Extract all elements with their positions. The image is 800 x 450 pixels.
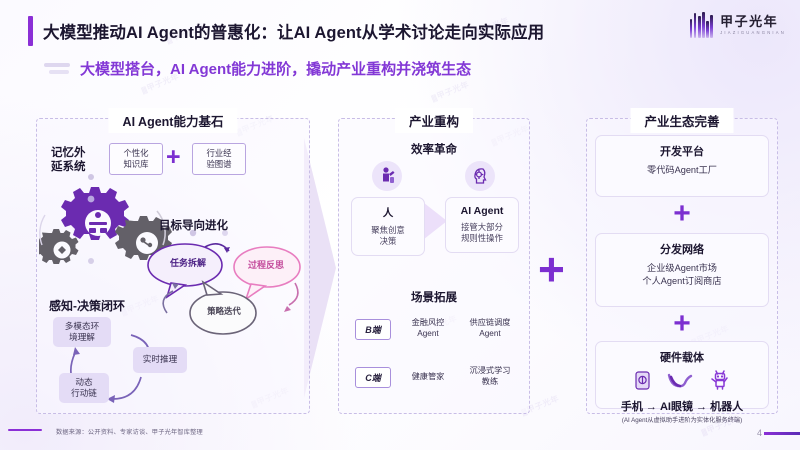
subtitle-dash-icon <box>44 63 70 74</box>
loop-step-realtime-reasoning: 实时推理 <box>133 347 187 373</box>
card-ai-agent: AI Agent 接管大部分 规则性操作 <box>445 197 519 253</box>
page-title: 大模型推动AI Agent的普惠化：让AI Agent从学术讨论走向实际应用 <box>28 14 668 48</box>
scenario-finance-risk: 金融风控 Agent <box>401 317 455 339</box>
scenario-supply-chain: 供应链调度 Agent <box>459 317 521 339</box>
scenario-health-butler: 健康管家 <box>401 371 455 382</box>
card-hardware-title: 硬件载体 <box>596 349 768 365</box>
card-dev-platform-title: 开发平台 <box>596 143 768 159</box>
plus-icon: + <box>166 145 181 170</box>
panel-mid-heading: 产业重构 <box>395 108 473 133</box>
perception-loop-label: 感知-决策闭环 <box>49 299 125 314</box>
card-ai-agent-title: AI Agent <box>446 205 518 217</box>
bubble-task-decomposition: 任务拆解 <box>157 249 219 275</box>
card-dev-platform: 开发平台 零代码Agent工厂 <box>595 135 769 197</box>
subtitle: 大模型搭台，AI Agent能力进阶，撬动产业重构并浇筑生态 <box>44 58 471 79</box>
brand-logo: 甲子光年 JIAZIGUANGNIAN <box>690 12 786 38</box>
page-number: 4 <box>757 428 762 438</box>
card-distribution-desc: 企业级Agent市场 个人Agent订阅商店 <box>596 262 768 289</box>
logo-bars-icon <box>690 12 714 38</box>
tag-b-side: B端 <box>355 319 391 340</box>
page-accent-bar <box>764 432 800 435</box>
card-hardware-carrier: 硬件载体 手机 → AI眼镜 → 机器人 (AI Agent从虚拟助手进阶为实体… <box>595 341 769 409</box>
memory-system-label: 记忆外 延系统 <box>51 146 86 175</box>
slide-root: 甲子光年 甲子光年 甲子光年 甲子光年 甲子光年 甲子光年 甲子光年 甲子光年 … <box>0 0 800 450</box>
loop-step-action-chain: 动态行动链 <box>59 373 109 403</box>
watermark: 甲子光年 <box>429 79 470 104</box>
ai-glasses-icon <box>667 372 693 395</box>
logo-name-cn: 甲子光年 <box>720 15 786 28</box>
footer-accent-line <box>8 429 42 432</box>
card-ai-agent-desc: 接管大部分 规则性操作 <box>446 222 518 252</box>
person-icon <box>372 161 402 191</box>
plus-icon-large: + <box>538 246 565 292</box>
card-distribution-title: 分发网络 <box>596 241 768 257</box>
panel-industry-ecosystem: 产业生态完善 开发平台 零代码Agent工厂 + 分发网络 企业级Agent市场… <box>586 118 778 414</box>
scenario-immersive-learning: 沉浸式学习 教练 <box>459 365 521 387</box>
hardware-note-text: (AI Agent从虚拟助手进阶为实体化服务终端) <box>596 415 768 430</box>
scenario-expansion-label: 场景拓展 <box>339 289 529 305</box>
robot-icon <box>710 369 730 395</box>
card-human: 人 聚焦创意 决策 <box>351 197 425 256</box>
efficiency-revolution-label: 效率革命 <box>339 141 529 157</box>
bubble-process-reflection: 过程反思 <box>237 252 295 276</box>
goal-evolution-label: 目标导向进化 <box>159 219 228 233</box>
panel-right-heading: 产业生态完善 <box>630 108 733 133</box>
card-distribution-network: 分发网络 企业级Agent市场 个人Agent订阅商店 <box>595 233 769 307</box>
bubble-strategy-iteration: 策略迭代 <box>195 299 253 323</box>
loop-step-multimodal: 多模态环境理解 <box>53 317 111 347</box>
card-human-desc: 聚焦创意 决策 <box>352 225 424 255</box>
panel-industry-restructure: 产业重构 效率革命 人 聚焦创意 决策 AI Agent 接管大部分 规则性操作… <box>338 118 530 414</box>
title-text: 大模型推动AI Agent的普惠化：让AI Agent从学术讨论走向实际应用 <box>43 19 544 43</box>
title-accent-bar <box>28 16 33 46</box>
panel-left-heading: AI Agent能力基石 <box>109 108 238 133</box>
plus-icon: + <box>673 199 691 229</box>
hardware-chain-text: 手机 → AI眼镜 → 机器人 <box>596 398 768 414</box>
card-dev-platform-desc: 零代码Agent工厂 <box>596 164 768 177</box>
phone-icon <box>635 371 650 395</box>
panel-ai-agent-foundation: AI Agent能力基石 记忆外 延系统 个性化 知识库 + 行业经 验图谱 <box>36 118 310 414</box>
footer-source: 数据来源：公开资料、专家访谈、甲子光年智库整理 <box>56 427 203 436</box>
card-human-title: 人 <box>352 205 424 220</box>
logo-name-en: JIAZIGUANGNIAN <box>720 31 786 35</box>
subtitle-text: 大模型搭台，AI Agent能力进阶，撬动产业重构并浇筑生态 <box>80 58 471 79</box>
tag-c-side: C端 <box>355 367 391 388</box>
ai-head-icon <box>465 161 495 191</box>
plus-icon: + <box>673 309 691 339</box>
